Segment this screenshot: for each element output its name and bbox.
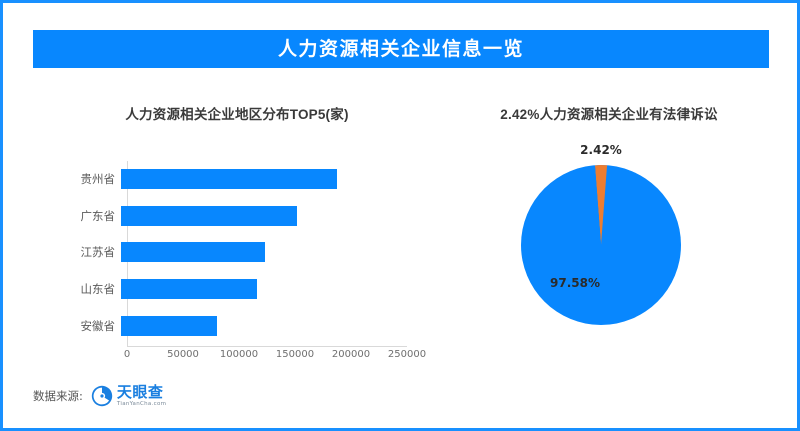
bar-row: 安徽省 xyxy=(33,316,433,336)
pie-minor-slice-label: 2.42% xyxy=(580,143,622,157)
pie-chart-graphic xyxy=(521,165,681,325)
x-axis-tick-label: 50000 xyxy=(167,349,199,360)
data-source-label: 数据来源: xyxy=(33,388,83,404)
bar-row: 江苏省 xyxy=(33,242,433,262)
footer: 数据来源: 天眼查 TianYanCha.com xyxy=(33,385,166,408)
bar-category-label: 安徽省 xyxy=(33,318,121,334)
bar-row: 广东省 xyxy=(33,206,433,226)
bar-row: 山东省 xyxy=(33,279,433,299)
bar-category-label: 贵州省 xyxy=(33,171,121,187)
bar-fill xyxy=(121,316,217,336)
bar-chart-x-tick-labels: 050000100000150000200000250000 xyxy=(127,349,417,367)
bar-category-label: 广东省 xyxy=(33,208,121,224)
bar-row: 贵州省 xyxy=(33,169,433,189)
x-axis-tick-label: 200000 xyxy=(332,349,370,360)
bar-fill xyxy=(121,242,265,262)
bar-category-label: 江苏省 xyxy=(33,244,121,260)
x-axis-tick-label: 150000 xyxy=(276,349,314,360)
tianyancha-logo-icon xyxy=(91,385,113,407)
bar-track xyxy=(121,316,433,336)
pie-chart-plot-area: 2.42% 97.58% xyxy=(433,143,773,373)
infographic-page: 人力资源相关企业信息一览 人力资源相关企业地区分布TOP5(家) 贵州省广东省江… xyxy=(0,0,800,431)
pie-major-slice-label: 97.58% xyxy=(550,276,600,290)
bar-chart-plot-area: 贵州省广东省江苏省山东省安徽省 xyxy=(33,161,433,361)
bar-fill xyxy=(121,169,337,189)
pie-chart-title: 2.42%人力资源相关企业有法律诉讼 xyxy=(445,103,773,123)
bar-category-label: 山东省 xyxy=(33,281,121,297)
bar-fill xyxy=(121,279,257,299)
header-banner: 人力资源相关企业信息一览 xyxy=(33,30,769,68)
pie-slice-litigation xyxy=(595,165,681,245)
bar-chart-panel: 人力资源相关企业地区分布TOP5(家) 贵州省广东省江苏省山东省安徽省 0500… xyxy=(33,103,433,373)
bar-track xyxy=(121,279,433,299)
brand-name: 天眼查 xyxy=(117,385,166,400)
bar-track xyxy=(121,206,433,226)
brand-domain: TianYanCha.com xyxy=(117,402,166,408)
pie-chart-panel: 2.42%人力资源相关企业有法律诉讼 2.42% 97.58% xyxy=(433,103,773,373)
bar-track xyxy=(121,242,433,262)
x-axis-tick-label: 250000 xyxy=(388,349,426,360)
x-axis-tick-label: 0 xyxy=(124,349,130,360)
page-title: 人力资源相关企业信息一览 xyxy=(278,40,524,59)
x-axis-tick-label: 100000 xyxy=(220,349,258,360)
bar-fill xyxy=(121,206,297,226)
brand-logo: 天眼查 TianYanCha.com xyxy=(91,385,166,408)
bar-chart-title: 人力资源相关企业地区分布TOP5(家) xyxy=(41,103,433,123)
brand-text: 天眼查 TianYanCha.com xyxy=(117,385,166,408)
bar-track xyxy=(121,169,433,189)
